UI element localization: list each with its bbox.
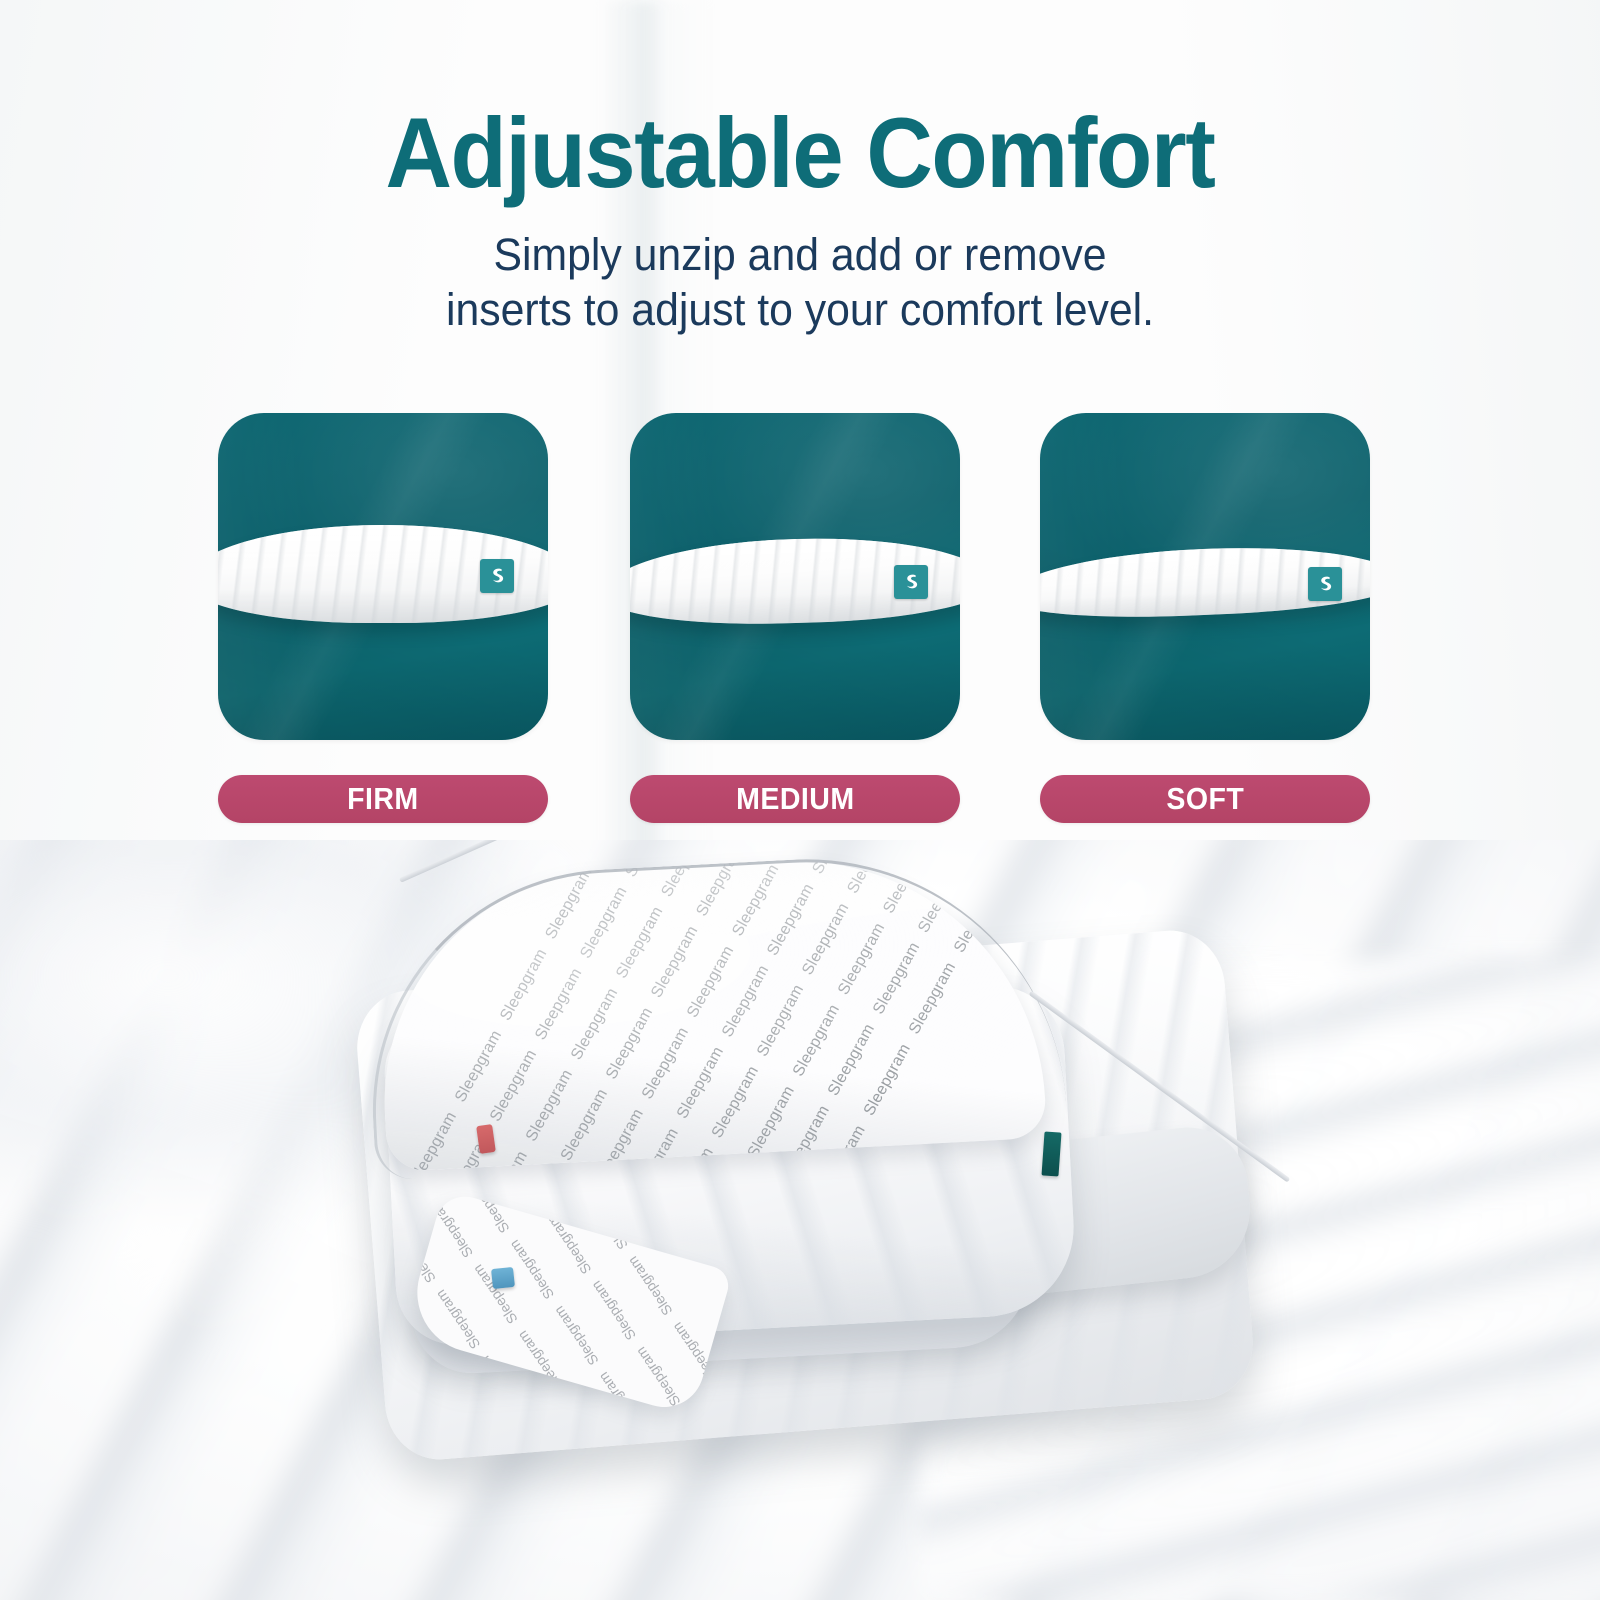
adjustable-pillow-product: SleepgramSleepgramSleepgramSleepgramSlee… xyxy=(330,840,1280,1560)
hero-product-photo: SleepgramSleepgramSleepgramSleepgramSlee… xyxy=(0,840,1600,1600)
firm-option-card[interactable] xyxy=(218,413,548,740)
medium-level-label: MEDIUM xyxy=(736,781,854,817)
firm-level-badge[interactable]: FIRM xyxy=(218,775,548,823)
infographic-canvas: Adjustable Comfort Simply unzip and add … xyxy=(0,0,1600,1600)
soft-level-label: SOFT xyxy=(1166,781,1244,817)
firm-level-label: FIRM xyxy=(347,781,419,817)
card-fabric-shading xyxy=(630,413,960,740)
soft-option-card[interactable] xyxy=(1040,413,1370,740)
card-fabric-shading xyxy=(218,413,548,740)
blue-insert-tag xyxy=(491,1267,515,1289)
soft-level-badge[interactable]: SOFT xyxy=(1040,775,1370,823)
teal-zipper-pull xyxy=(1041,1131,1061,1176)
medium-level-badge[interactable]: MEDIUM xyxy=(630,775,960,823)
page-title: Adjustable Comfort xyxy=(56,103,1544,202)
subtitle-line-2: inserts to adjust to your comfort level. xyxy=(40,283,1560,338)
page-subtitle: Simply unzip and add or remove inserts t… xyxy=(40,228,1560,338)
medium-option-card[interactable] xyxy=(630,413,960,740)
card-fabric-shading xyxy=(1040,413,1370,740)
subtitle-line-1: Simply unzip and add or remove xyxy=(40,228,1560,283)
